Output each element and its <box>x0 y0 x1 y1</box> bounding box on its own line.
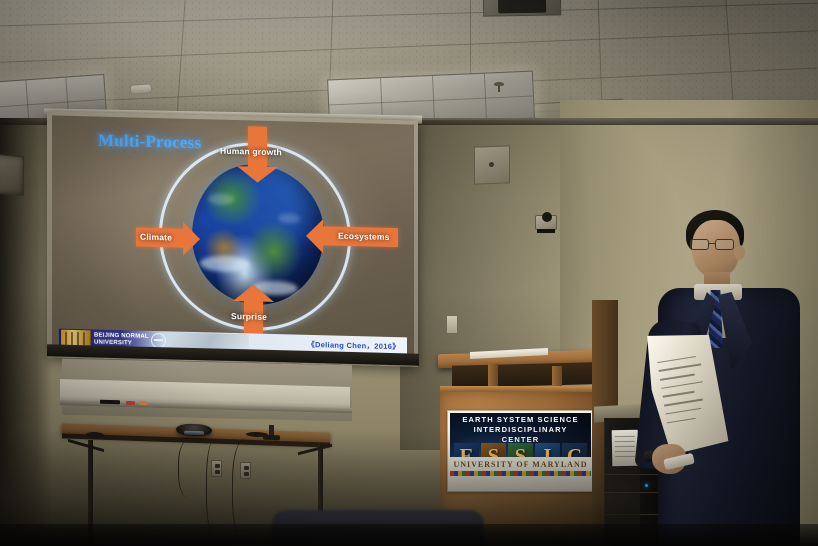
eyeglass-right <box>715 239 734 250</box>
ceiling-air-vent <box>483 0 562 17</box>
wall-speaker-left <box>0 154 24 197</box>
eyeglass-left <box>690 239 709 250</box>
room-photo: Multi-Process Human growth Ecosystems Su… <box>0 0 818 546</box>
ear <box>734 245 745 260</box>
eyeglass-bridge <box>709 243 716 244</box>
projected-slide: Multi-Process Human growth Ecosystems Su… <box>52 115 414 360</box>
wall-camera <box>533 211 559 233</box>
foreground-shadow <box>0 524 818 546</box>
podium-underside-shadow <box>452 362 592 387</box>
earth-globe <box>192 163 324 306</box>
arrow-label-ecosystems: Ecosystems <box>338 231 390 242</box>
arrow-label-human-growth: Human growth <box>220 146 282 158</box>
presenter <box>634 200 810 546</box>
sign-line-1: EARTH SYSTEM SCIENCE <box>450 415 591 424</box>
whiteboard-marker-red[interactable] <box>126 401 135 405</box>
arrow-label-climate: Climate <box>140 232 172 243</box>
sprinkler-head <box>494 82 504 93</box>
podium-rail <box>440 386 604 392</box>
light-switch[interactable] <box>446 315 458 334</box>
whiteboard-marker-orange[interactable] <box>139 401 147 405</box>
slide-citation: 《Deliang Chen，2016》 <box>307 339 400 352</box>
slide-title: Multi-Process <box>98 131 201 154</box>
smoke-detector <box>130 83 153 95</box>
arrow-label-surprise: Surprise <box>231 311 267 322</box>
whiteboard-eraser[interactable] <box>100 400 120 405</box>
wall-speaker-panel <box>474 145 510 184</box>
